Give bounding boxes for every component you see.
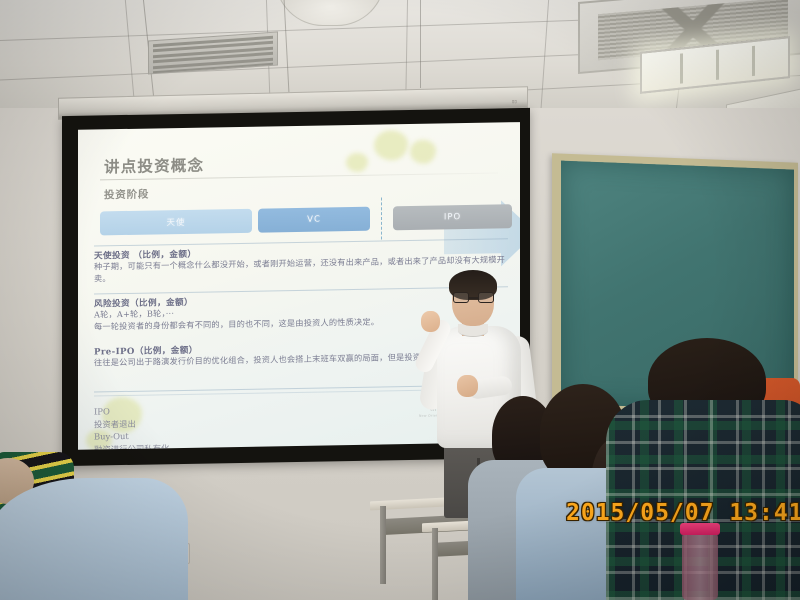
decor-blob [346, 153, 368, 172]
casing-brand-label: ▯▯ [512, 99, 517, 104]
stage-box-ipo[interactable]: IPO [393, 204, 512, 230]
stage-box-vc[interactable]: VC [258, 207, 370, 233]
slide-title: 讲点投资概念 [104, 154, 204, 178]
pink-water-bottle [682, 532, 718, 600]
decor-blob [374, 130, 408, 161]
camera-timestamp: 2015/05/07 13:41 [566, 500, 800, 526]
presenter-right-hand [457, 375, 478, 397]
stage-divider [381, 197, 382, 239]
classroom-photo: ▯▯ 讲点投资概念 投资阶段 天使 VC IPO 天使投资 （比例，金额） 种子… [0, 0, 800, 600]
slide-block-angel: 天使投资 （比例，金额） 种子期，可能只有一个概念什么都没开始，或者刚开始运营，… [94, 242, 508, 285]
presenter-glasses [453, 292, 494, 303]
presenter-left-hand [421, 311, 440, 332]
decor-blob [410, 140, 436, 164]
stage-box-angel[interactable]: 天使 [100, 209, 252, 236]
slide-subtitle: 投资阶段 [104, 187, 149, 203]
student-left-blue-shirt [0, 478, 188, 600]
